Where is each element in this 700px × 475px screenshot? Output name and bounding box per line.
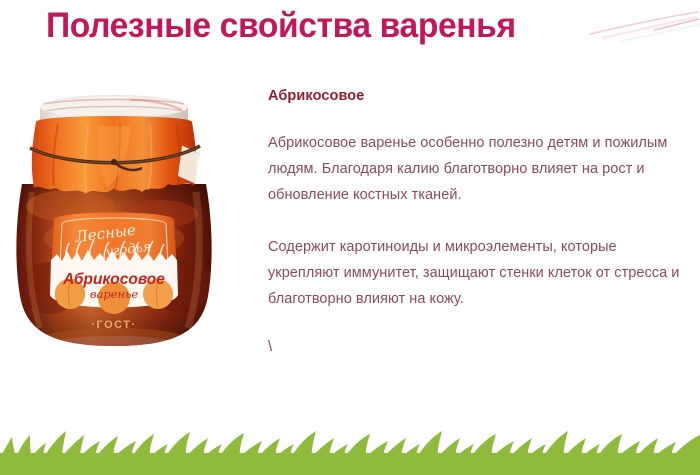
- text-column: Абрикосовое Абрикосовое варенье особенно…: [268, 88, 680, 356]
- jar-label: Лесные угодья Абрикосовое варенье: [46, 213, 182, 319]
- svg-text:·ГОСТ·: ·ГОСТ·: [91, 319, 136, 331]
- stray-character: \: [268, 338, 680, 356]
- apricot-jam-jar-image: Лесные угодья Абрикосовое варенье ·ГОСТ·: [10, 88, 220, 356]
- grass-border: [0, 423, 700, 475]
- jar-label-product-text: Абрикосовое: [62, 271, 165, 288]
- jar-label-product-sub-text: варенье: [90, 287, 139, 301]
- paragraph-1: Абрикосовое варенье особенно полезно дет…: [268, 130, 680, 208]
- paragraph-2: Содержит каротиноиды и микроэлементы, ко…: [268, 234, 680, 312]
- jar-gost-mark: ·ГОСТ·: [91, 319, 136, 331]
- section-subheading: Абрикосовое: [268, 88, 680, 104]
- page-title: Полезные свойства варенья: [46, 6, 516, 46]
- slide: Полезные свойства варенья: [0, 0, 700, 475]
- swoosh-decoration: [580, 4, 700, 50]
